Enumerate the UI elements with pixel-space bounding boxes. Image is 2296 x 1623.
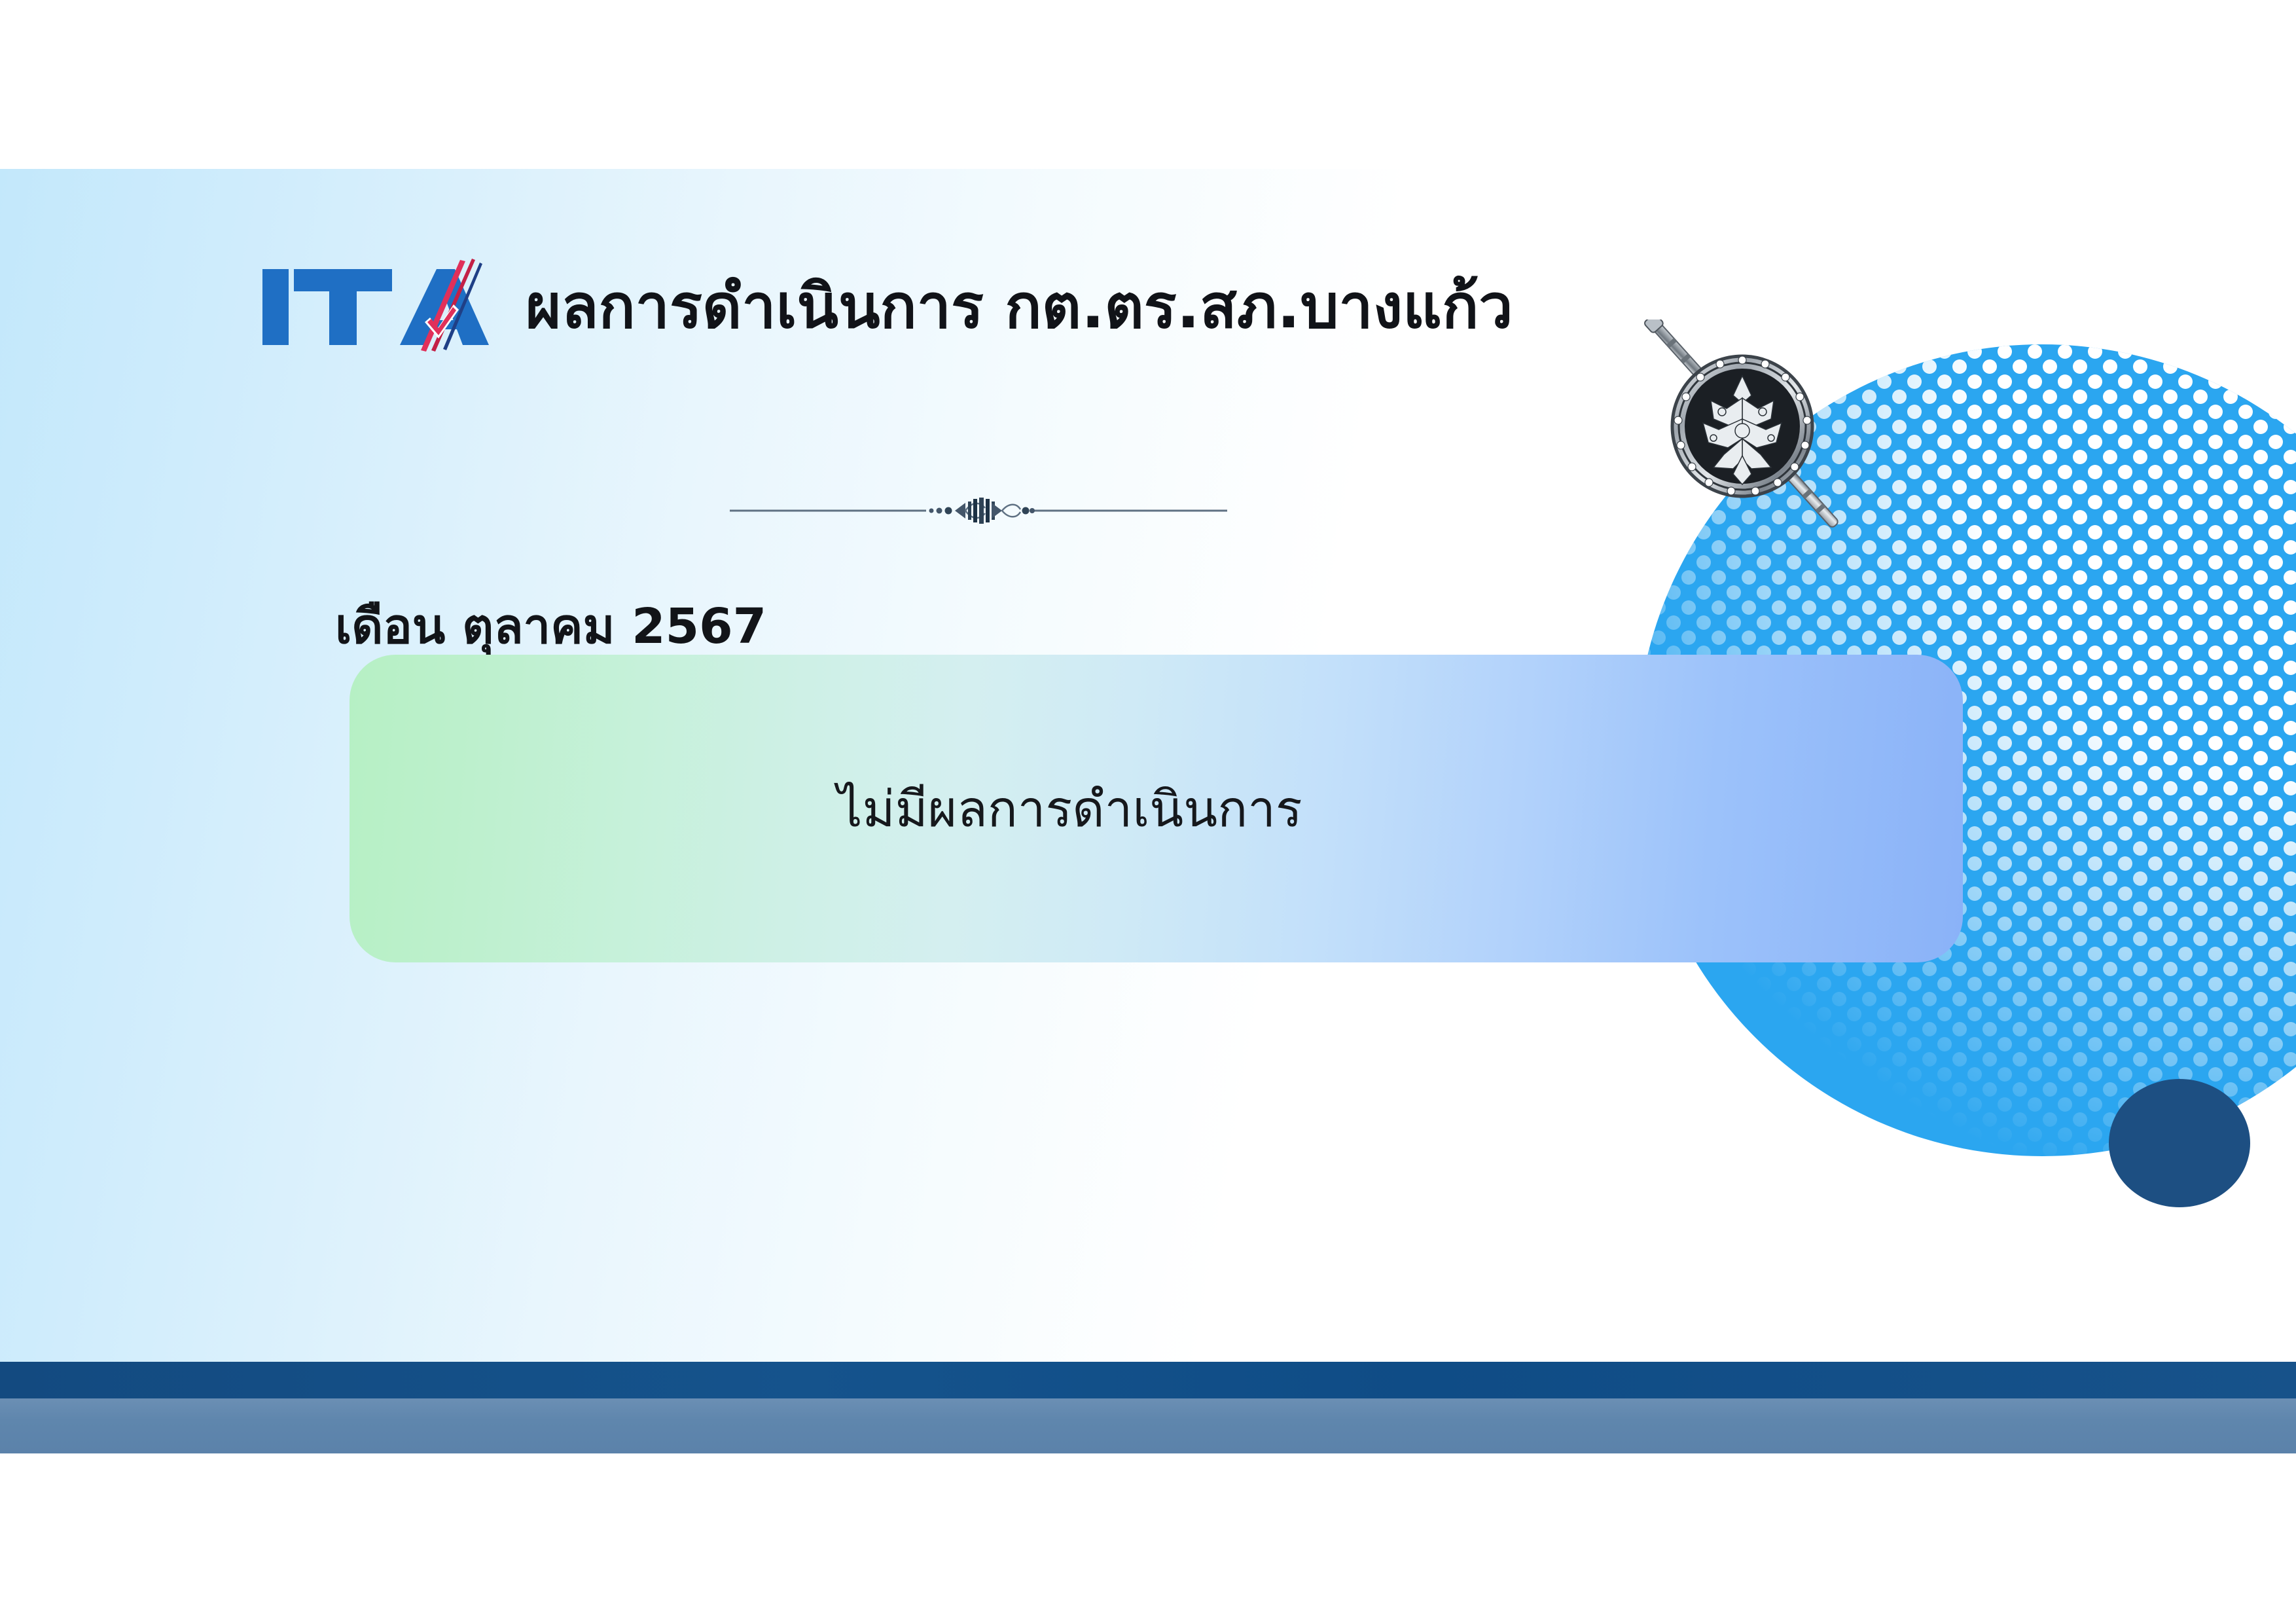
slide-canvas: ผลการดำเนินการ กต.ตร.สภ.บางแก้ว [0,169,2296,1453]
month-subtitle: เดือน ตุลาคม 2567 [335,598,766,656]
footer-bar-dark [0,1362,2296,1398]
footer-bar-light [0,1398,2296,1453]
content-message: ไม่มีผลการดำเนินการ [837,778,1302,840]
slide-page: ผลการดำเนินการ กต.ตร.สภ.บางแก้ว [0,0,2296,1623]
slide-header: ผลการดำเนินการ กต.ตร.สภ.บางแก้ว [259,241,1685,372]
navy-accent-circle [2109,1079,2250,1207]
content-card: ไม่มีผลการดำเนินการ [350,655,1963,962]
ita-logo-icon [259,257,495,356]
page-title: ผลการดำเนินการ กต.ตร.สภ.บางแก้ว [526,272,1513,342]
ornamental-divider-icon [730,488,1227,528]
